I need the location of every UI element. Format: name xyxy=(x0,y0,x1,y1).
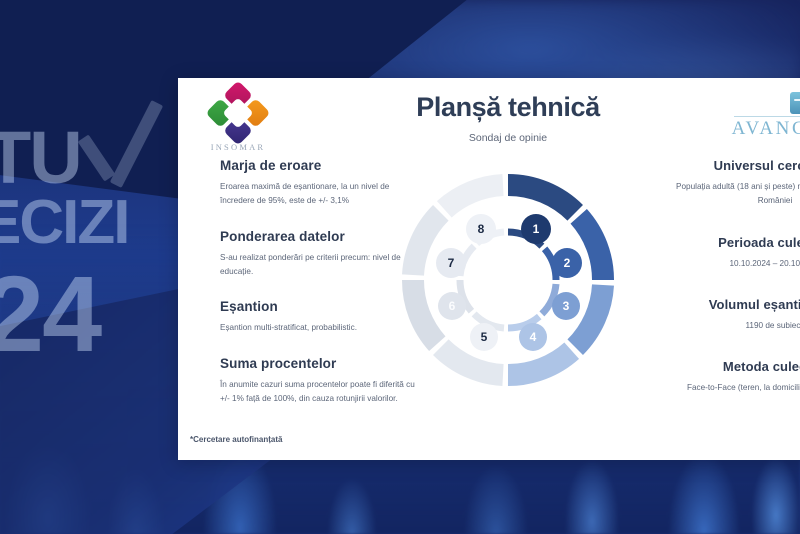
checkmark-icon xyxy=(64,104,184,190)
left-info-column: Marja de eroare Eroarea maximă de eșanti… xyxy=(220,158,420,406)
info-block-title: Volumul eșantionului xyxy=(668,297,800,312)
info-block-perioada-culegerii: Perioada culegerii 10.10.2024 – 20.10.20… xyxy=(668,235,800,271)
info-block-body: S-au realizat ponderări pe criterii prec… xyxy=(220,251,420,280)
info-block-body: 10.10.2024 – 20.10.2024 xyxy=(668,257,800,271)
info-block-body: În anumite cazuri suma procentelor poate… xyxy=(220,378,420,407)
info-block-body: Eșantion multi-stratificat, probabilisti… xyxy=(220,321,420,335)
insomar-diamond-icon xyxy=(205,80,270,145)
donut-inner-ring xyxy=(430,202,586,358)
info-block-title: Marja de eroare xyxy=(220,158,420,173)
donut-bubble-2: 2 xyxy=(552,248,582,278)
poster-line-3: 24 xyxy=(0,268,100,361)
page-subtitle: Sondaj de opinie xyxy=(358,132,658,144)
info-block-body: Eroarea maximă de eșantionare, la un niv… xyxy=(220,180,420,209)
info-block-ponderarea-datelor: Ponderarea datelor S-au realizat ponderă… xyxy=(220,229,420,280)
info-block-suma-procentelor: Suma procentelor În anumite cazuri suma … xyxy=(220,356,420,407)
info-block-title: Perioada culegerii xyxy=(668,235,800,250)
info-block-universul-cercetarii: Universul cercetării Populația adultă (1… xyxy=(668,158,800,209)
center-heading: Planșă tehnică Sondaj de opinie xyxy=(358,92,658,144)
info-block-metoda-culegerii: Metoda culegerii Face-to-Face (teren, la… xyxy=(668,359,800,395)
donut-bubble-4: 4 xyxy=(519,323,547,351)
donut-bubble-7: 7 xyxy=(436,248,466,278)
donut-bubble-5: 5 xyxy=(470,323,498,351)
info-block-title: Eșantion xyxy=(220,299,420,314)
donut-bubble-6: 6 xyxy=(438,292,466,320)
info-block-volumul-esantionului: Volumul eșantionului 1190 de subiecți xyxy=(668,297,800,333)
footnote: *Cercetare autofinanțată xyxy=(190,435,282,444)
technical-sheet-card: INSOMAR AVANGARDE Planșă tehnică Sondaj … xyxy=(178,78,800,460)
donut-inner-svg xyxy=(430,202,586,358)
page-title: Planșă tehnică xyxy=(358,92,658,123)
donut-bubble-1: 1 xyxy=(521,214,551,244)
info-block-esantion: Eșantion Eșantion multi-stratificat, pro… xyxy=(220,299,420,335)
info-block-body: Populația adultă (18 ani și peste) neins… xyxy=(668,180,800,209)
infographic-stage: TU ECIZI 24 INSOMAR AVANGARDE Planșă teh… xyxy=(0,0,800,534)
avangarde-wordmark: AVANGARDE xyxy=(726,118,800,140)
avangarde-mark-icon xyxy=(790,92,800,114)
insomar-logo: INSOMAR xyxy=(204,90,272,152)
donut-bubble-8: 8 xyxy=(466,214,496,244)
avangarde-rule xyxy=(734,116,800,117)
info-block-title: Universul cercetării xyxy=(668,158,800,173)
donut-bubble-3: 3 xyxy=(552,292,580,320)
poster-line-2: ECIZI xyxy=(0,196,128,249)
donut-chart: 1 2 3 4 5 6 7 8 xyxy=(396,168,620,392)
right-info-column: Universul cercetării Populația adultă (1… xyxy=(668,158,800,422)
info-block-marja-de-eroare: Marja de eroare Eroarea maximă de eșanti… xyxy=(220,158,420,209)
info-block-title: Metoda culegerii xyxy=(668,359,800,374)
info-block-body: Face-to-Face (teren, la domiciliul respo… xyxy=(668,381,800,395)
info-block-body: 1190 de subiecți xyxy=(668,319,800,333)
info-block-title: Ponderarea datelor xyxy=(220,229,420,244)
info-block-title: Suma procentelor xyxy=(220,356,420,371)
avangarde-logo: AVANGARDE xyxy=(726,92,800,140)
